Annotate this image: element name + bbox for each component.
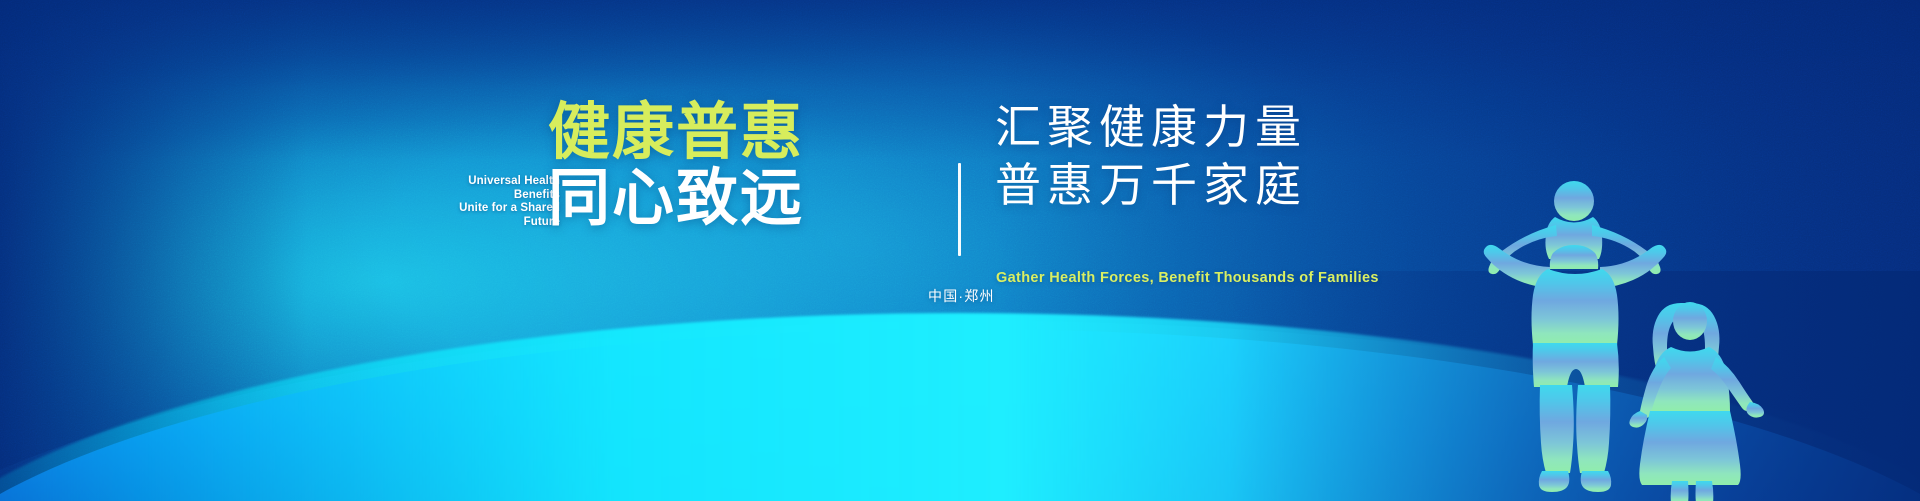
banner-content: Universal Health Benefits Unite for a Sh…	[0, 0, 1920, 501]
english-left-line-3: Unite for a Shared	[430, 202, 560, 216]
english-left-line-1: Universal Health	[430, 175, 560, 189]
slogan-line-2: 普惠万千家庭	[995, 156, 1307, 214]
slogan-block: 汇聚健康力量 普惠万千家庭	[995, 98, 1307, 214]
headline-line-1: 健康普惠	[548, 100, 948, 166]
main-headline: 健康普惠 同心致远	[548, 100, 948, 232]
english-subtitle: Gather Health Forces, Benefit Thousands …	[996, 270, 1379, 286]
slogan-line-1: 汇聚健康力量	[995, 98, 1307, 156]
english-left-block: Universal Health Benefits Unite for a Sh…	[430, 175, 560, 229]
english-left-line-2: Benefits	[430, 189, 560, 203]
english-left-line-4: Future	[430, 216, 560, 230]
location-label: 中国·郑州	[928, 286, 995, 306]
vertical-divider	[958, 163, 961, 256]
headline-line-2: 同心致远	[548, 166, 948, 232]
health-benefits-banner: Universal Health Benefits Unite for a Sh…	[0, 0, 1920, 501]
